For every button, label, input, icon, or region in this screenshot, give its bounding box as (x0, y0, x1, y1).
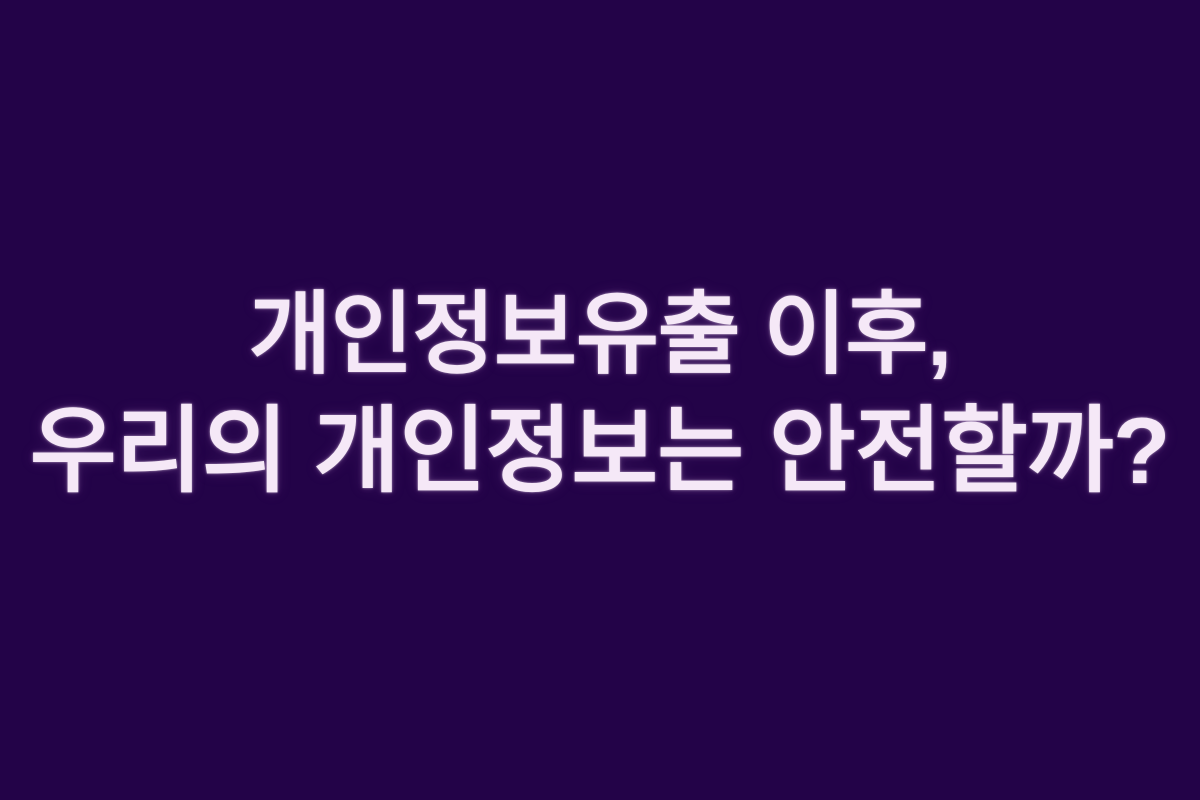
headline-block: 개인정보유출 이후, 우리의 개인정보는 안전할까? (0, 277, 1200, 509)
poster-canvas: 개인정보유출 이후, 우리의 개인정보는 안전할까? (0, 0, 1200, 800)
headline-line-2: 우리의 개인정보는 안전할까? (0, 393, 1200, 509)
headline-line-1: 개인정보유출 이후, (0, 277, 1200, 393)
